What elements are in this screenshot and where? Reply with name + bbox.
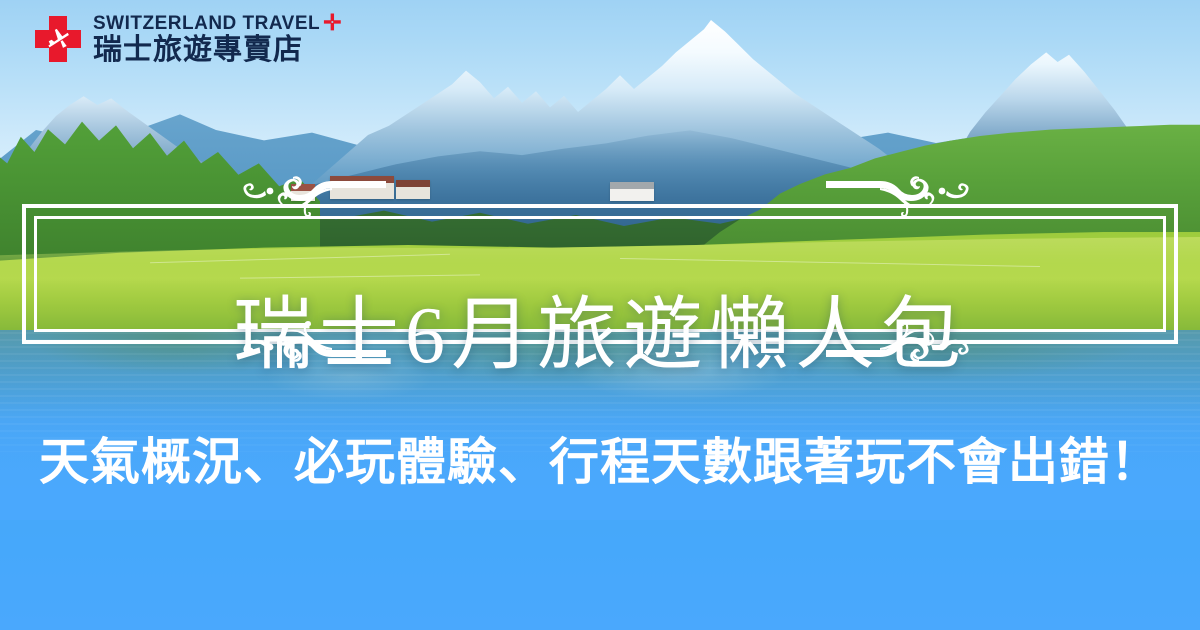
- brand-chinese-name: 瑞士旅遊專賣店: [93, 34, 342, 66]
- chalet-building: [291, 184, 315, 201]
- chalet-building: [330, 176, 394, 199]
- brand-english-name: SWITZERLAND TRAVEL ✛: [93, 12, 342, 34]
- brand-english-label: SWITZERLAND TRAVEL: [93, 14, 320, 33]
- brand-logo-text: SWITZERLAND TRAVEL ✛ 瑞士旅遊專賣店: [93, 12, 342, 66]
- page-title: 瑞士6月旅遊懶人包: [0, 272, 1200, 384]
- plus-icon: ✛: [323, 12, 342, 34]
- chalet-building: [396, 180, 430, 199]
- swiss-cross-airplane-icon: [32, 13, 84, 65]
- brand-logo[interactable]: SWITZERLAND TRAVEL ✛ 瑞士旅遊專賣店: [32, 12, 342, 66]
- chalet-building: [610, 182, 654, 201]
- page-subtitle: 天氣概況、必玩體驗、行程天數跟著玩不會出錯！: [0, 420, 1200, 496]
- promo-banner: SWITZERLAND TRAVEL ✛ 瑞士旅遊專賣店 瑞士6月旅遊懶人包: [0, 0, 1200, 630]
